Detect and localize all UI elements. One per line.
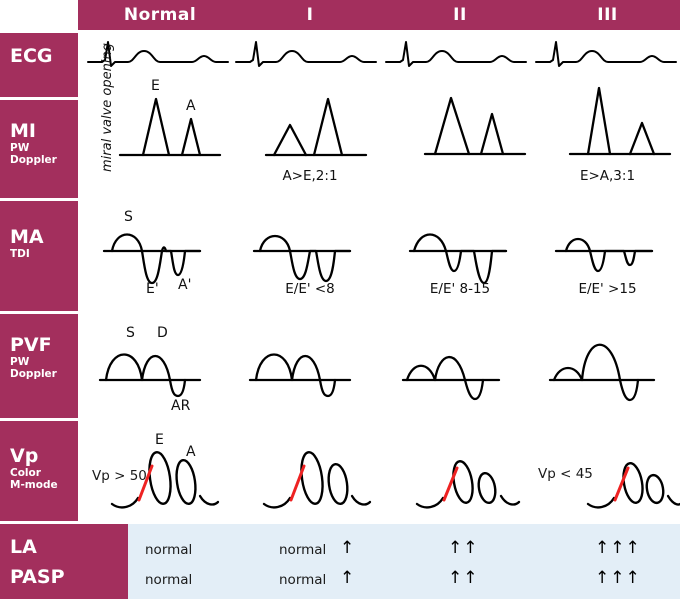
vp-mmode-grade-2 bbox=[415, 452, 525, 510]
row-label-pvf: PVF PW Doppler bbox=[0, 314, 78, 418]
ecg-trace-grade-1 bbox=[236, 38, 376, 70]
la-value-normal: normal bbox=[145, 542, 192, 558]
diastolic-dysfunction-grading-chart: Normal I II III ECG MI PW Doppler MA TDI… bbox=[0, 0, 680, 599]
row-label-vp: Vp Color M-mode bbox=[0, 421, 78, 521]
header-col-normal: Normal bbox=[85, 0, 235, 30]
la-arrows-grade-1: ↑ bbox=[340, 538, 355, 558]
pasp-value-grade-1: normal bbox=[279, 572, 326, 588]
summary-row-labels: LA PASP bbox=[0, 524, 128, 599]
vp-mmode-grade-3 bbox=[588, 452, 680, 510]
pvf-waveform-grade-2 bbox=[403, 337, 503, 403]
ma-waveform-grade-3 bbox=[556, 227, 652, 289]
header-col-grade-2: II bbox=[385, 0, 535, 30]
pvf-normal-s-label: S bbox=[126, 325, 135, 341]
row-label-pvf-sub1: PW bbox=[10, 356, 57, 368]
row-label-mi: MI PW Doppler bbox=[0, 100, 78, 198]
row-label-ma: MA TDI bbox=[0, 201, 78, 311]
mi-grade-1-caption: A>E,2:1 bbox=[235, 168, 385, 184]
la-arrows-grade-3: ↑↑↑ bbox=[595, 538, 641, 558]
row-label-ecg-title: ECG bbox=[10, 47, 53, 67]
vp-mmode-grade-1 bbox=[262, 448, 372, 510]
vp-mmode-normal bbox=[110, 448, 220, 510]
row-label-mi-title: MI bbox=[10, 122, 57, 142]
mi-normal-e-label: E bbox=[151, 78, 160, 94]
pvf-normal-d-label: D bbox=[157, 325, 168, 341]
mi-waveform-grade-2 bbox=[425, 92, 525, 160]
ecg-trace-grade-2 bbox=[386, 38, 526, 70]
ma-waveform-grade-2 bbox=[410, 227, 506, 289]
ma-grade-1-caption: E/E' <8 bbox=[235, 281, 385, 297]
ma-grade-2-caption: E/E' 8-15 bbox=[385, 281, 535, 297]
row-label-mi-sub1: PW bbox=[10, 142, 57, 154]
summary-label-pasp: PASP bbox=[10, 566, 65, 588]
header-col-grade-1: I bbox=[235, 0, 385, 30]
ma-waveform-normal bbox=[104, 227, 200, 289]
mi-waveform-grade-3 bbox=[570, 85, 670, 160]
pvf-waveform-normal bbox=[100, 340, 200, 400]
row-label-vp-title: Vp bbox=[10, 447, 58, 467]
mi-waveform-grade-1 bbox=[266, 95, 366, 161]
pvf-waveform-grade-1 bbox=[250, 340, 350, 400]
row-label-ma-title: MA bbox=[10, 228, 44, 248]
pasp-value-normal: normal bbox=[145, 572, 192, 588]
summary-label-la: LA bbox=[10, 536, 37, 558]
row-label-pvf-sub2: Doppler bbox=[10, 368, 57, 380]
pvf-normal-ar-label: AR bbox=[171, 398, 190, 414]
pasp-arrows-grade-1: ↑ bbox=[340, 568, 355, 588]
ma-waveform-grade-1 bbox=[254, 227, 350, 289]
vp-normal-e-label: E bbox=[155, 432, 164, 448]
row-label-vp-sub2: M-mode bbox=[10, 479, 58, 491]
mi-waveform-normal bbox=[120, 95, 220, 161]
pvf-waveform-grade-3 bbox=[550, 330, 660, 404]
ma-grade-3-caption: E/E' >15 bbox=[535, 281, 680, 297]
row-label-ma-sub1: TDI bbox=[10, 248, 44, 260]
ma-normal-s-label: S bbox=[124, 209, 133, 225]
mitral-valve-opening-label: miral valve opening bbox=[100, 43, 115, 172]
row-label-ecg: ECG bbox=[0, 33, 78, 97]
pasp-arrows-grade-3: ↑↑↑ bbox=[595, 568, 641, 588]
mi-grade-3-caption: E>A,3:1 bbox=[535, 168, 680, 184]
row-label-pvf-title: PVF bbox=[10, 336, 57, 356]
row-label-vp-sub1: Color bbox=[10, 467, 58, 479]
row-label-mi-sub2: Doppler bbox=[10, 154, 57, 166]
vp-grade-3-value-label: Vp < 45 bbox=[538, 466, 593, 482]
ecg-trace-grade-3 bbox=[536, 38, 676, 70]
header-col-grade-3: III bbox=[535, 0, 680, 30]
la-arrows-grade-2: ↑↑ bbox=[448, 538, 479, 558]
pasp-arrows-grade-2: ↑↑ bbox=[448, 568, 479, 588]
la-value-grade-1: normal bbox=[279, 542, 326, 558]
